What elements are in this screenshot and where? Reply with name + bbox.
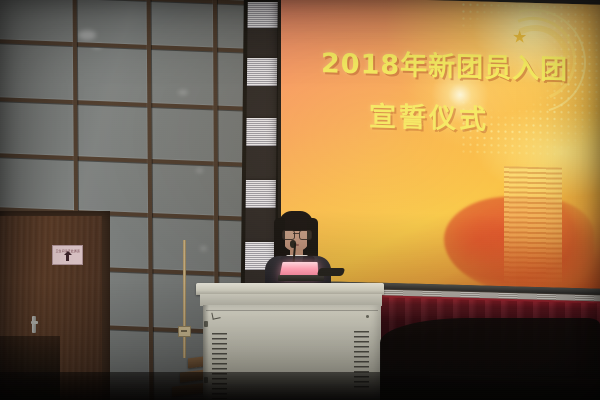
- louver-panel-dark: [247, 28, 277, 58]
- laptop-base: [278, 275, 324, 281]
- glasses-lens-right: [299, 230, 312, 240]
- microphone-base: [317, 268, 346, 276]
- louver-panel-light: [247, 58, 277, 86]
- up-arrow-icon: [66, 254, 69, 261]
- glasses-lens-left: [282, 230, 295, 240]
- louver-panel-dark: [246, 146, 276, 180]
- slide-title-line-1: 2018年新团员入团: [321, 41, 568, 87]
- photograph-scene: 卫生间请走此通道 ★: [0, 0, 600, 400]
- foreground-bottom-shadow: [0, 372, 600, 400]
- door-handle[interactable]: [32, 316, 36, 333]
- power-outlet[interactable]: [178, 326, 191, 337]
- podium-screw: [366, 315, 369, 318]
- glasses-bridge: [293, 233, 299, 234]
- wall-conduit-pipe: [183, 240, 186, 358]
- direction-sign: 卫生间请走此通道: [52, 245, 83, 265]
- louver-panel-light: [246, 180, 276, 208]
- louver-panel-light: [248, 2, 278, 28]
- glasses-icon: [282, 230, 310, 238]
- louver-panel-light: [246, 118, 276, 146]
- slide-title-line-2: 宣誓仪式: [369, 94, 489, 136]
- louver-panel-dark: [247, 86, 277, 118]
